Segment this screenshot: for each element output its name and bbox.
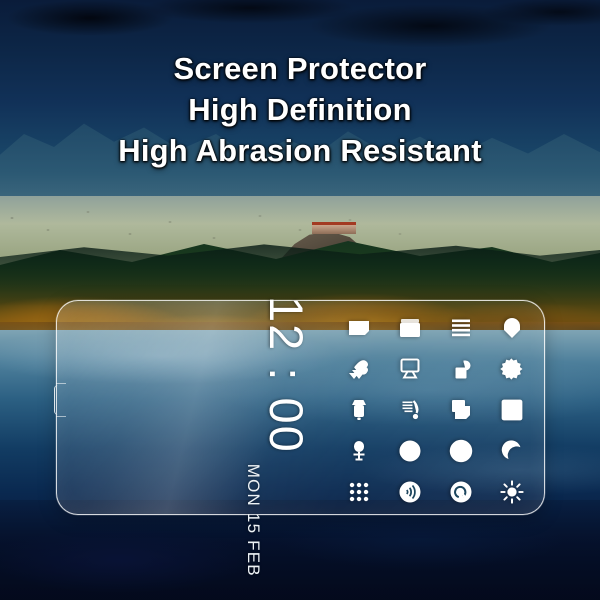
microphone-icon[interactable] [344,436,374,466]
refresh-circle-icon[interactable] [446,477,476,507]
brightness-sun-icon[interactable] [497,477,527,507]
flashlight-icon[interactable] [344,395,374,425]
moon-icon[interactable] [497,436,527,466]
headline-line-1: Screen Protector [0,48,600,89]
lockscreen-clock: 12 : 00 MON 15 FEB [242,296,332,456]
location-tag-icon[interactable] [497,313,527,343]
video-camera-icon[interactable] [395,354,425,384]
screen-protector-outline: 12 : 00 MON 15 FEB [56,300,545,515]
book-pages-icon[interactable] [395,313,425,343]
notes-list-icon[interactable] [344,313,374,343]
headline-text: Screen Protector High Definition High Ab… [0,48,600,171]
bars-lines-icon[interactable] [446,313,476,343]
clock-time: 12 : 00 [264,296,311,454]
headline-line-2: High Definition [0,89,600,130]
camera-notch [54,385,60,415]
shower-rain-icon[interactable] [395,395,425,425]
gear-icon[interactable] [497,354,527,384]
filter-circle-icon[interactable] [395,436,425,466]
product-banner: Screen Protector High Definition High Ab… [0,0,600,600]
copy-files-icon[interactable] [446,395,476,425]
deep-water-shadow [0,500,600,600]
hilltop-castle [312,222,356,234]
chevron-right-circle-icon[interactable] [446,436,476,466]
headline-line-3: High Abrasion Resistant [0,130,600,171]
apps-grid-icon[interactable] [344,477,374,507]
heart-arrow-icon[interactable] [344,354,374,384]
wifi-circle-icon[interactable] [395,477,425,507]
lock-icon[interactable] [446,354,476,384]
calendar-day-number: 15 [505,407,515,417]
calendar-icon[interactable]: 15 [497,395,527,425]
quick-settings-icon-grid[interactable]: 15 [333,307,537,511]
